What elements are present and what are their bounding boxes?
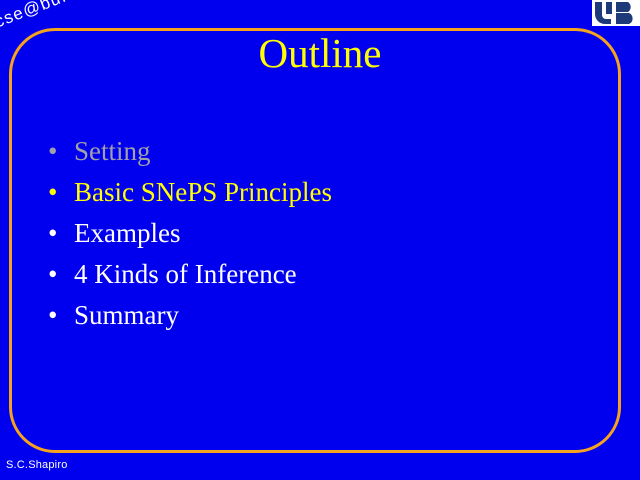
ub-logo (592, 0, 640, 26)
outline-item-label: 4 Kinds of Inference (74, 254, 297, 295)
presentation-slide: cse@buffalo Outline • Setting • Basic SN… (0, 0, 640, 480)
outline-item-summary[interactable]: • Summary (48, 295, 588, 336)
outline-list: • Setting • Basic SNePS Principles • Exa… (48, 131, 588, 336)
bullet-icon: • (48, 213, 74, 254)
outline-item-4-kinds-of-inference[interactable]: • 4 Kinds of Inference (48, 254, 588, 295)
bullet-icon: • (48, 131, 74, 172)
outline-item-label: Summary (74, 295, 179, 336)
bullet-icon: • (48, 254, 74, 295)
outline-item-examples[interactable]: • Examples (48, 213, 588, 254)
outline-item-setting[interactable]: • Setting (48, 131, 588, 172)
slide-title: Outline (0, 30, 640, 76)
outline-item-label: Examples (74, 213, 180, 254)
bullet-icon: • (48, 172, 74, 213)
slide-footer-author: S.C.Shapiro (6, 459, 68, 471)
bullet-icon: • (48, 295, 74, 336)
outline-item-label: Setting (74, 131, 151, 172)
outline-item-basic-sneps-principles[interactable]: • Basic SNePS Principles (48, 172, 588, 213)
outline-item-label: Basic SNePS Principles (74, 172, 332, 213)
